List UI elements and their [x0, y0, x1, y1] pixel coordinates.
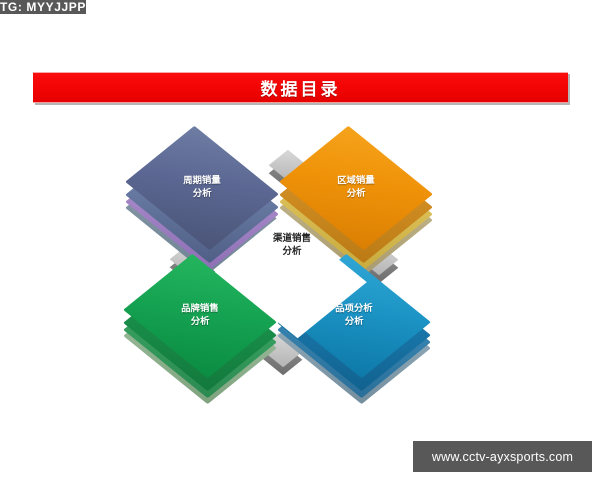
block-label-line1: 区域销量	[337, 175, 375, 187]
center-label-line2: 分析	[282, 246, 301, 257]
block-label: 区域销量 分析	[337, 175, 375, 201]
block-label: 品项分析 分析	[335, 303, 373, 329]
watermark-top-left-text: TG: MYYJJPP	[0, 0, 86, 14]
pinwheel-diagram: 周期销量 分析 区域销量 分析 品牌销售 分析	[140, 128, 440, 390]
watermark-url-text: www.cctv-ayxsports.com	[432, 450, 573, 464]
page-title: 数据目录	[261, 75, 341, 100]
diagram-block-cycle-sales[interactable]: 周期销量 分析	[148, 134, 256, 242]
block-label-line2: 分析	[345, 316, 364, 327]
block-label: 周期销量 分析	[183, 175, 221, 201]
title-banner: 数据目录	[33, 72, 568, 103]
block-label-line2: 分析	[347, 188, 366, 199]
diagram-block-region-sales[interactable]: 区域销量 分析	[302, 134, 410, 242]
block-label-line2: 分析	[191, 316, 210, 327]
block-label-line1: 品牌销售	[181, 303, 219, 315]
diagram-center-label: 渠道销售 分析	[236, 232, 348, 259]
block-label: 品牌销售 分析	[181, 303, 219, 329]
block-label-line1: 周期销量	[183, 175, 221, 187]
block-label-line2: 分析	[193, 188, 212, 199]
watermark-badge-bottom-right: www.cctv-ayxsports.com	[413, 441, 592, 472]
block-label-line1: 品项分析	[335, 303, 373, 315]
center-label-line1: 渠道销售	[273, 233, 311, 244]
watermark-badge-top-left: TG: MYYJJPP	[0, 0, 86, 14]
